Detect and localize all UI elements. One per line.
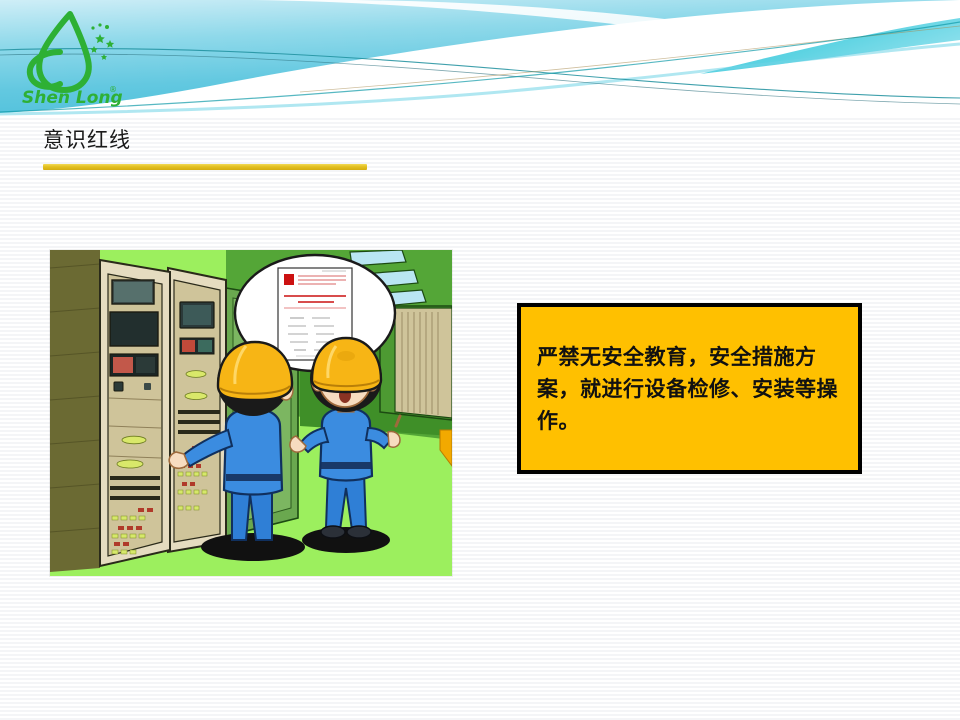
red-stamp-icon bbox=[284, 274, 294, 285]
worker-a-shadow bbox=[201, 533, 305, 561]
slide-canvas: Shen Long ® 意识红线 bbox=[0, 0, 960, 720]
warning-callout-box: 严禁无安全教育，安全措施方案，就进行设备检修、安装等操作。 bbox=[517, 303, 862, 474]
page-title: 意识红线 bbox=[43, 126, 373, 154]
control-cabinet-1 bbox=[100, 260, 170, 566]
left-wall bbox=[50, 250, 100, 572]
worker-b-shadow bbox=[302, 527, 390, 553]
control-cabinet-2 bbox=[168, 268, 226, 552]
header-banner bbox=[0, 0, 960, 118]
warning-callout-text: 严禁无安全教育，安全措施方案，就进行设备检修、安装等操作。 bbox=[521, 341, 858, 437]
safety-illustration bbox=[50, 250, 452, 576]
title-underline bbox=[43, 164, 367, 170]
page-title-block: 意识红线 bbox=[43, 126, 373, 170]
